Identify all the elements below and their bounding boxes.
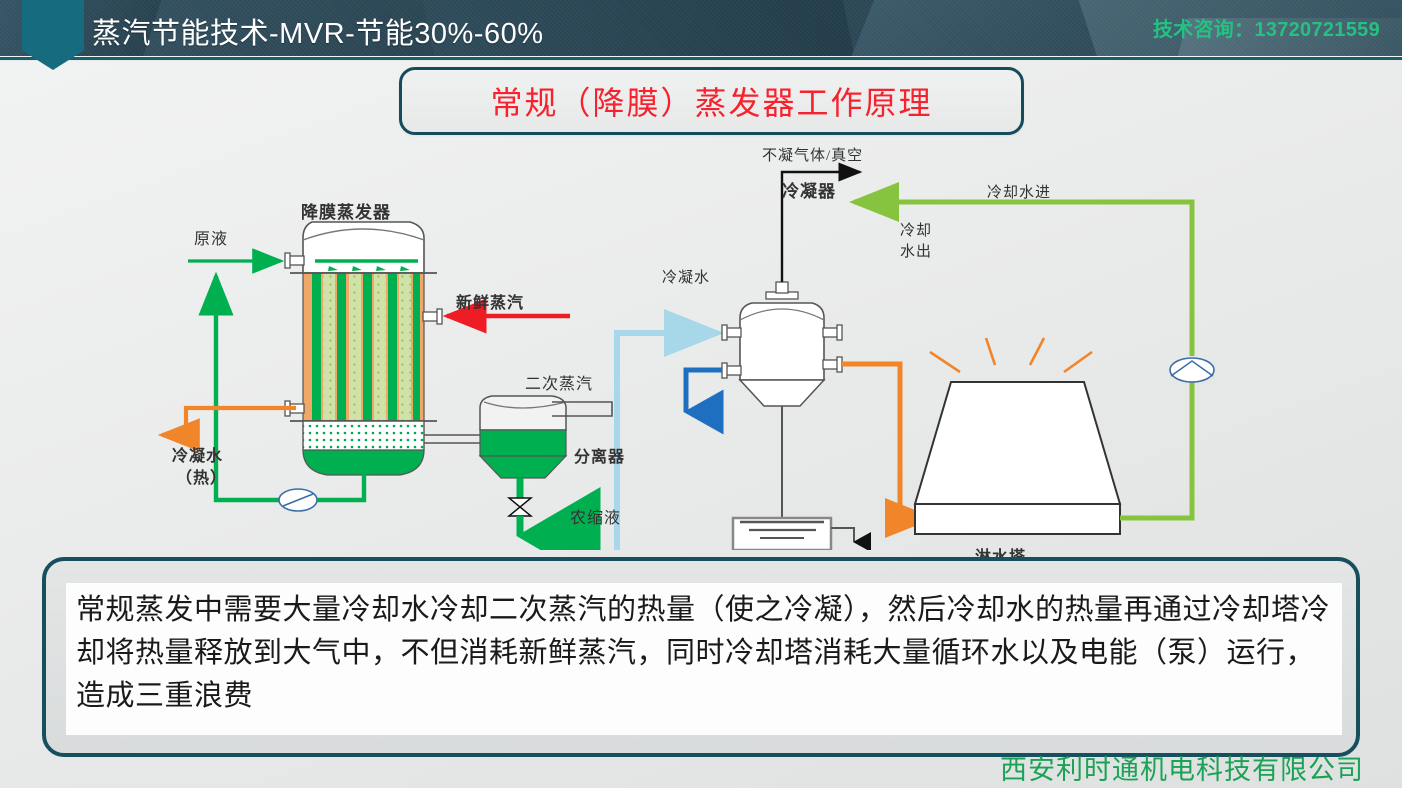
explanation-panel: 常规蒸发中需要大量冷却水冷却二次蒸汽的热量（使之冷凝），然后冷却水的热量再通过冷… — [66, 583, 1342, 735]
explanation-text: 常规蒸发中需要大量冷却水冷却二次蒸汽的热量（使之冷凝），然后冷却水的热量再通过冷… — [76, 589, 1332, 718]
process-flow-diagram: 降膜蒸发器 原液 新鲜蒸汽 冷凝水 （热） 二次蒸汽 分离器 农缩液 不凝气体/… — [0, 130, 1402, 550]
label-secondary-steam: 二次蒸汽 — [525, 370, 593, 394]
label-feed: 原液 — [194, 225, 228, 249]
header-contact-phone: 技术咨询：13720721559 — [1153, 13, 1380, 42]
page-title: 常规（降膜）蒸发器工作原理 — [490, 78, 932, 124]
label-hot-condensate-line2: （热） — [176, 464, 227, 488]
slide-canvas: 蒸汽节能技术-MVR-节能30%-60% 技术咨询：13720721559 常规… — [0, 0, 1402, 788]
label-condenser: 冷凝器 — [782, 177, 836, 202]
label-cooling-water-in: 冷却水进 — [987, 181, 1051, 202]
label-concentrate: 农缩液 — [570, 504, 621, 528]
slide-title-box: 常规（降膜）蒸发器工作原理 — [399, 67, 1024, 135]
label-cooling-water-out-line1: 冷却 — [900, 219, 932, 240]
footer-company-name: 西安利时通机电科技有限公司 — [1000, 748, 1364, 787]
header-divider-rule — [0, 56, 1402, 61]
label-fresh-steam: 新鲜蒸汽 — [456, 289, 524, 313]
label-separator: 分离器 — [574, 443, 625, 467]
header-title: 蒸汽节能技术-MVR-节能30%-60% — [92, 10, 544, 52]
explanation-box: 常规蒸发中需要大量冷却水冷却二次蒸汽的热量（使之冷凝），然后冷却水的热量再通过冷… — [42, 557, 1360, 757]
label-noncondensable-gas: 不凝气体/真空 — [762, 144, 863, 165]
label-cooling-water-out-line2: 水出 — [900, 240, 932, 261]
label-hot-condensate-line1: 冷凝水 — [172, 442, 223, 466]
label-condensate: 冷凝水 — [662, 266, 710, 287]
label-falling-film-evaporator: 降膜蒸发器 — [301, 198, 391, 223]
